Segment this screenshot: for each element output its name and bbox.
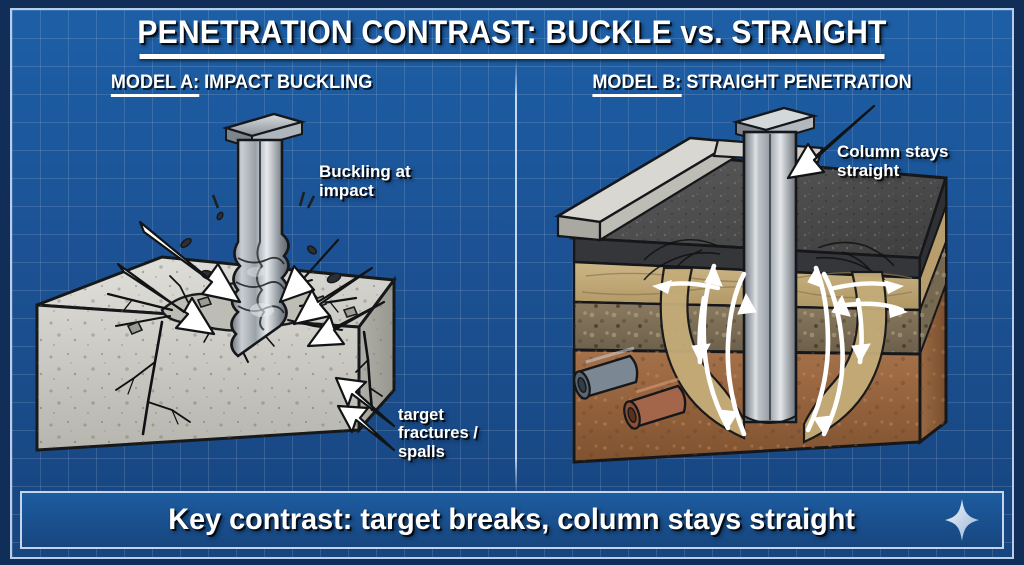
- key-contrast-banner: Key contrast: target breaks, column stay…: [20, 491, 1004, 549]
- callout-column-stays-straight: Column stays straight: [837, 142, 948, 180]
- blueprint-frame: PENETRATION CONTRAST: BUCKLE vs. STRAIGH…: [10, 8, 1014, 559]
- banner-text: Key contrast: target breaks, column stay…: [169, 503, 856, 537]
- diamond-sparkle-icon: [944, 498, 980, 542]
- callout-target-fractures-spalls: target fractures / spalls: [398, 406, 478, 461]
- model-b-illustration: [522, 10, 1014, 480]
- callout-buckling-at-impact: Buckling at impact: [319, 162, 411, 200]
- poster-root: PENETRATION CONTRAST: BUCKLE vs. STRAIGH…: [0, 0, 1024, 565]
